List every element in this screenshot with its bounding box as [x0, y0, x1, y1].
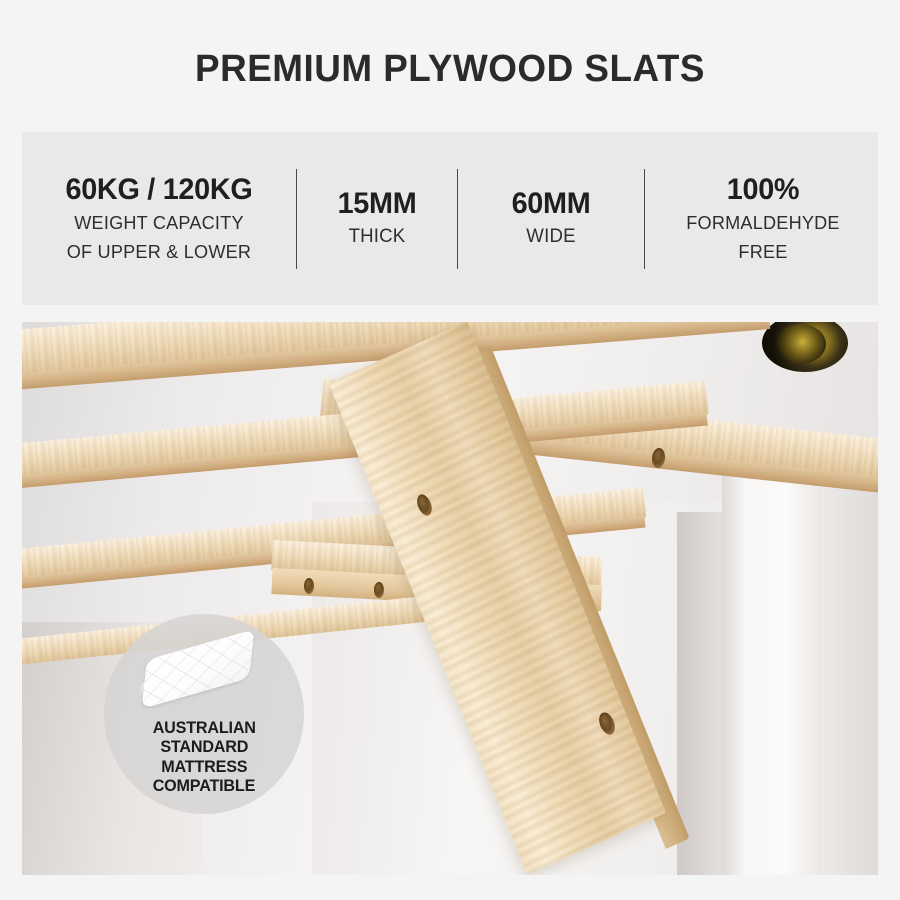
badge-label-line4: COMPATIBLE	[153, 776, 255, 795]
spec-value: 60KG / 120KG	[31, 174, 286, 206]
spec-item-weight-capacity: 60KG / 120KG WEIGHT CAPACITY OF UPPER & …	[22, 174, 296, 263]
spec-label-line1: THICK	[303, 225, 452, 249]
spec-item-thickness: 15MM THICK	[297, 188, 457, 249]
product-photo: AUSTRALIAN STANDARD MATTRESS COMPATIBLE	[22, 322, 878, 875]
badge-label-line3: MATTRESS	[161, 757, 247, 776]
mattress-top	[142, 629, 255, 709]
spec-label-line1: WIDE	[464, 225, 638, 249]
dark-hardware-inner-icon	[774, 324, 826, 364]
bed-post	[722, 472, 826, 875]
spec-value: 60MM	[466, 188, 637, 220]
spec-label-line2: FREE	[651, 240, 874, 263]
badge-label-line1: AUSTRALIAN	[152, 718, 255, 737]
bed-post-secondary	[822, 462, 878, 875]
mattress-compatibility-badge: AUSTRALIAN STANDARD MATTRESS COMPATIBLE	[104, 614, 304, 814]
spec-value: 15MM	[304, 188, 450, 220]
drill-hole	[374, 582, 384, 598]
spec-item-formaldehyde-free: 100% FORMALDEHYDE FREE	[645, 174, 881, 263]
mattress-icon	[136, 636, 272, 710]
badge-label-line2: STANDARD	[160, 737, 248, 756]
specification-panel: 60KG / 120KG WEIGHT CAPACITY OF UPPER & …	[22, 132, 878, 305]
spec-item-width: 60MM WIDE	[458, 188, 644, 249]
drill-hole	[304, 578, 314, 594]
spec-label-line1: FORMALDEHYDE	[651, 211, 874, 234]
spec-label-line2: OF UPPER & LOWER	[29, 240, 290, 263]
spec-value: 100%	[654, 174, 873, 206]
spec-label-line1: WEIGHT CAPACITY	[29, 211, 290, 234]
page-title: PREMIUM PLYWOOD SLATS	[14, 48, 887, 91]
